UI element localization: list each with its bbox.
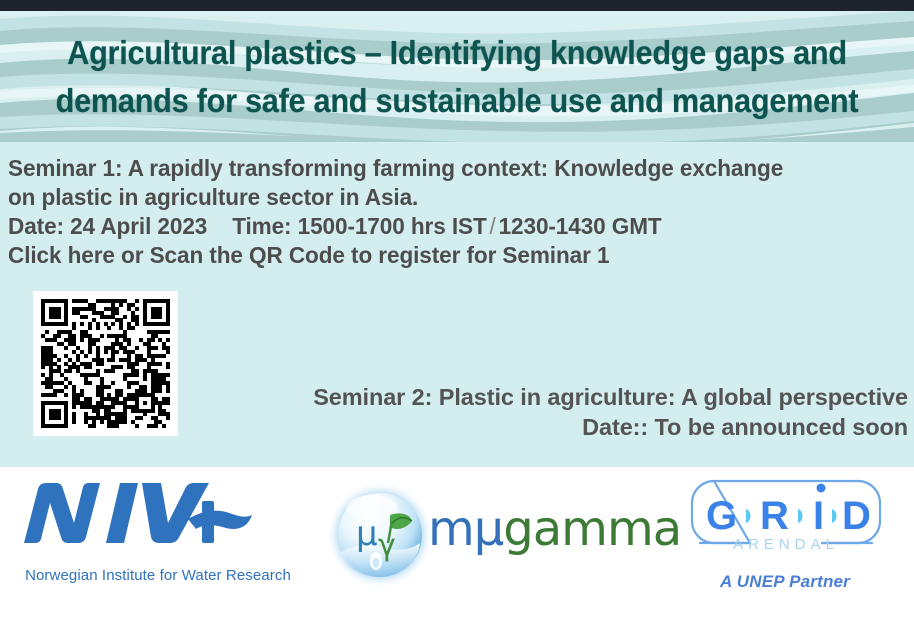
seminar-1-date: Date: 24 April 2023 [8,213,207,239]
svg-text:D: D [842,494,871,538]
qr-code-image[interactable] [33,291,178,436]
grid-arendal-mark-icon: G R I D ARENDAL [670,477,902,549]
seminar-2-date: Date:: To be announced soon [208,412,908,442]
header-banner: Agricultural plastics – Identifying know… [0,11,914,142]
niva-logo: Norwegian Institute for Water Research [8,479,308,599]
svg-text:μ: μ [356,514,378,554]
footer-logo-bar: Norwegian Institute for Water Research [0,467,914,637]
svg-text:ARENDAL: ARENDAL [733,536,839,549]
grid-arendal-logo: G R I D ARENDAL A UNEP Partner [660,477,910,627]
banner-title-line-1: Agricultural plastics – Identifying know… [67,29,847,77]
svg-text:R: R [760,494,789,538]
seminar-1-register-cta[interactable]: Click here or Scan the QR Code to regist… [8,241,870,270]
mugamma-wordmark: mμgamma [428,499,681,559]
svg-text:G: G [706,494,737,538]
niva-wordmark-icon [16,479,256,551]
body-section: Seminar 1: A rapidly transforming farmin… [0,142,914,467]
mugamma-word-mu: mμ [428,501,503,557]
banner-title-line-2: demands for safe and sustainable use and… [56,77,859,125]
time-separator: / [487,213,499,239]
seminar-1-time: Time: 1500-1700 hrs IST [232,213,486,239]
mugamma-word-gamma: gamma [503,501,681,557]
water-drop-sphere-icon: μ γ [326,481,434,589]
seminar-1-datetime-line: Date: 24 April 2023Time: 1500-1700 hrs I… [8,212,870,241]
qr-code-seminar-1[interactable] [33,291,178,436]
seminar-1-block: Seminar 1: A rapidly transforming farmin… [8,154,870,270]
seminar-2-block: Seminar 2: Plastic in agriculture: A glo… [208,382,908,442]
seminar-1-title-line-2: on plastic in agriculture sector in Asia… [8,183,870,212]
seminar-1-time-gmt: 1230-1430 GMT [499,213,662,239]
niva-tagline: Norwegian Institute for Water Research [8,567,308,584]
seminar-2-title: Seminar 2: Plastic in agriculture: A glo… [208,382,908,412]
top-dark-bar [0,0,914,11]
grid-unep-partner-label: A UNEP Partner [660,572,910,592]
svg-text:I: I [813,494,824,538]
banner-title: Agricultural plastics – Identifying know… [32,11,882,142]
mugamma-logo: μ γ mμgamma [318,479,648,599]
seminar-1-title-line-1: Seminar 1: A rapidly transforming farmin… [8,154,870,183]
